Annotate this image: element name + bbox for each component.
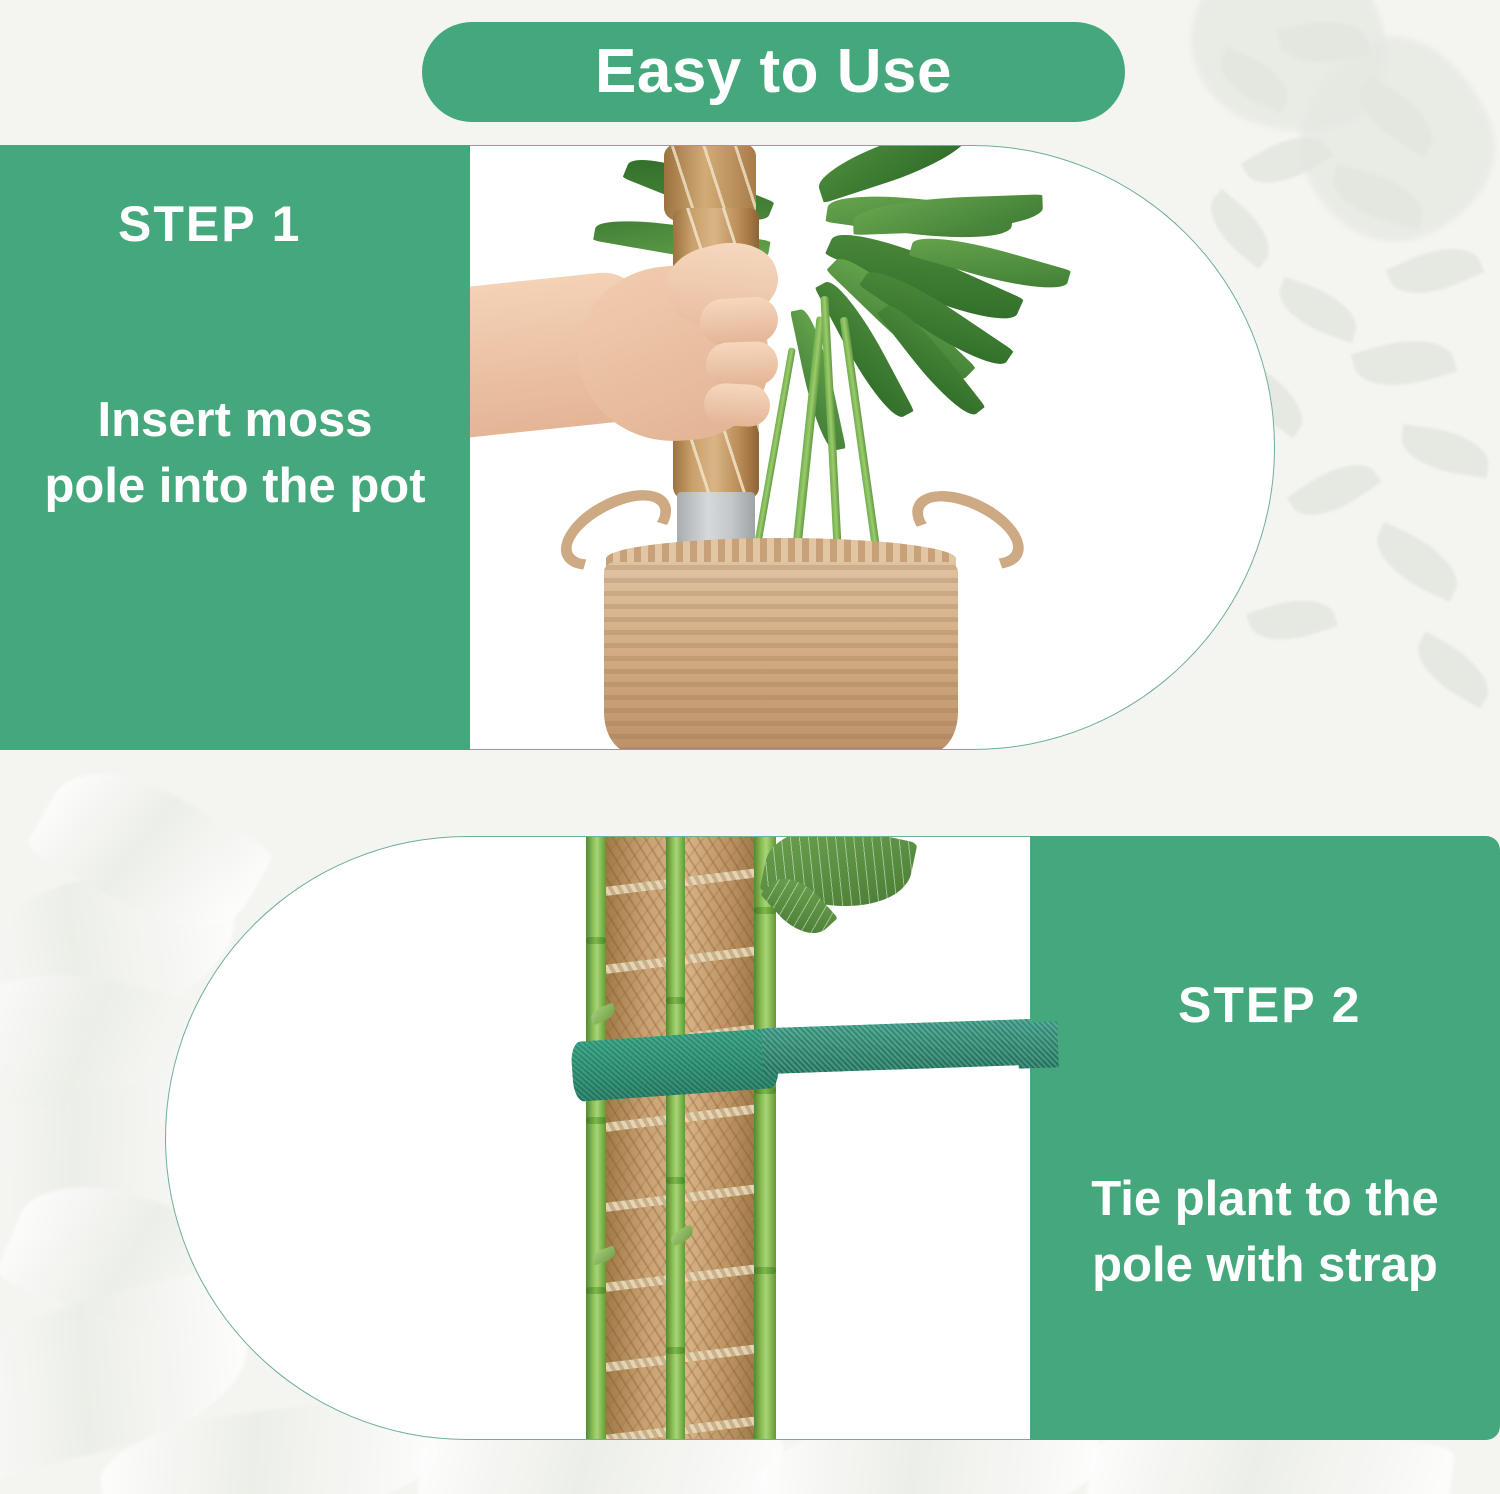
step-1-label-block: STEP 1 Insert moss pole into the pot bbox=[0, 145, 470, 750]
page-title: Easy to Use bbox=[595, 41, 952, 103]
step-2-photo bbox=[165, 836, 1045, 1440]
step-1-description-line-2: pole into the pot bbox=[44, 459, 425, 513]
step-1-illustration bbox=[468, 146, 1274, 749]
finger-ring bbox=[703, 382, 771, 427]
step-2-description-line-2: pole with strap bbox=[1092, 1238, 1438, 1292]
step-1-panel: STEP 1 Insert moss pole into the pot bbox=[0, 145, 1275, 750]
finger-index bbox=[698, 295, 779, 346]
velcro-strap-tail bbox=[761, 1018, 1045, 1074]
step-2-illustration bbox=[166, 837, 1045, 1439]
woven-basket bbox=[604, 562, 958, 750]
step-2-label-block: STEP 2 Tie plant to the pole with strap bbox=[1030, 836, 1500, 1440]
step-2-panel: STEP 2 Tie plant to the pole with strap bbox=[165, 836, 1500, 1440]
step-2-description-line-1: Tie plant to the bbox=[1091, 1172, 1439, 1226]
velcro-strap-extension bbox=[1017, 1021, 1059, 1068]
step-1-description-line-1: Insert moss bbox=[97, 393, 372, 447]
infographic-page: Easy to Use bbox=[0, 0, 1500, 1494]
step-1-label: STEP 1 bbox=[118, 195, 301, 253]
page-title-pill: Easy to Use bbox=[422, 22, 1125, 122]
step-1-photo bbox=[468, 145, 1275, 750]
plant-cane-mid bbox=[666, 836, 685, 1440]
plant-cane-left bbox=[586, 836, 606, 1440]
step-2-description: Tie plant to the pole with strap bbox=[1030, 1166, 1500, 1298]
finger-middle bbox=[705, 341, 778, 387]
plant-cane-right bbox=[754, 836, 776, 1440]
step-2-label: STEP 2 bbox=[1178, 976, 1361, 1034]
step-1-description: Insert moss pole into the pot bbox=[0, 387, 470, 519]
